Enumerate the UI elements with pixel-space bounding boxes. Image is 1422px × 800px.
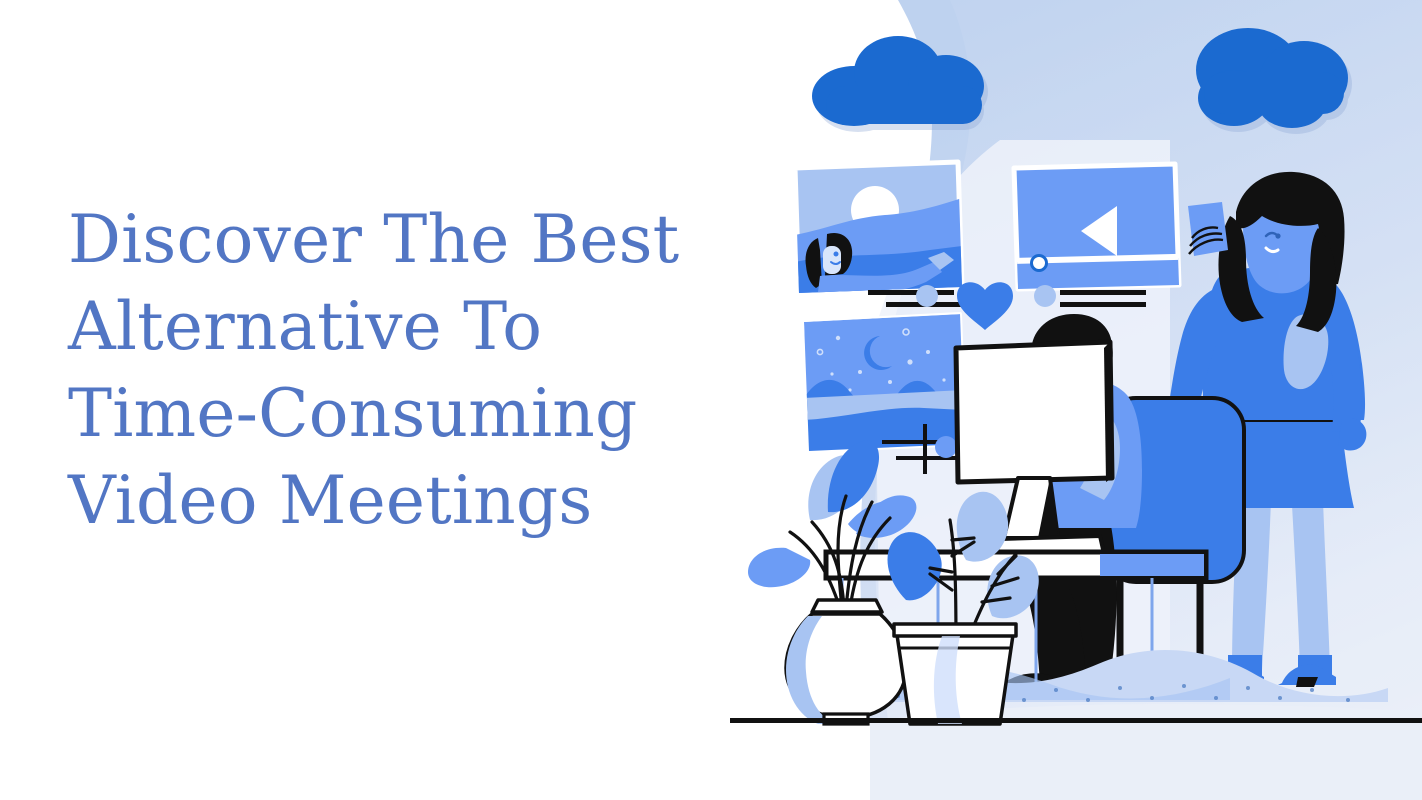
photo-card-night [804,314,966,452]
hero-banner: Discover The Best Alternative To Time-Co… [0,0,1422,800]
hero-illustration [700,0,1422,800]
hero-copy: Discover The Best Alternative To Time-Co… [68,196,708,544]
ground-line [730,718,1422,723]
video-card[interactable] [1010,164,1186,289]
page-title: Discover The Best Alternative To Time-Co… [68,196,708,544]
phone-icon [1188,202,1228,256]
video-progress-knob[interactable] [1032,256,1047,271]
photo-card-selfie [795,162,962,294]
